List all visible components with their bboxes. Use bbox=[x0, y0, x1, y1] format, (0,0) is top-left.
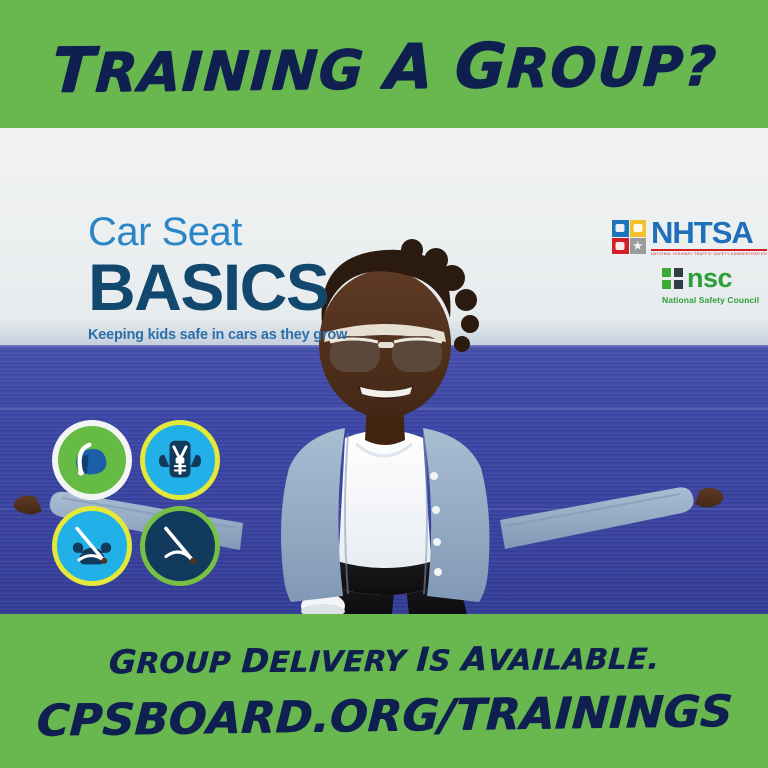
nsc-wordmark: nsc bbox=[687, 265, 732, 292]
stage-icon-seat-belt bbox=[140, 506, 220, 586]
pedestrian-tile-icon bbox=[630, 220, 647, 237]
lockup-tagline: Keeping kids safe in cars as they grow bbox=[88, 327, 358, 343]
lockup-line-1: Car Seat bbox=[88, 212, 358, 252]
nhtsa-expansion-text: NATIONAL HIGHWAY TRAFFIC SAFETY ADMINIST… bbox=[651, 252, 767, 256]
nhtsa-logo: NHTSA NATIONAL HIGHWAY TRAFFIC SAFETY AD… bbox=[612, 218, 767, 256]
nsc-square-1 bbox=[662, 268, 671, 277]
lockup-line-2: BASICS bbox=[88, 254, 358, 321]
hero-photo: Car Seat BASICS Keeping kids safe in car… bbox=[0, 128, 768, 614]
nsc-logo: nsc National Safety Council bbox=[662, 265, 759, 305]
top-banner: TRAINING A GROUP? bbox=[0, 0, 768, 128]
nsc-logo-row: nsc bbox=[662, 265, 732, 292]
availability-text: GROUP DELIVERY IS AVAILABLE. bbox=[108, 638, 661, 682]
car-seat-stage-icons bbox=[52, 420, 228, 592]
nsc-subtitle: National Safety Council bbox=[662, 295, 759, 305]
stage-icon-booster bbox=[52, 506, 132, 586]
airbag-tile-icon bbox=[612, 238, 629, 255]
stage-icon-rear-facing bbox=[52, 420, 132, 500]
stage-icon-forward-facing bbox=[140, 420, 220, 500]
page-title: TRAINING A GROUP? bbox=[50, 33, 719, 102]
nsc-square-4 bbox=[674, 280, 683, 289]
star-tile-icon bbox=[630, 238, 647, 255]
car-seat-basics-lockup: Car Seat BASICS Keeping kids safe in car… bbox=[88, 212, 358, 343]
car-tile-icon bbox=[612, 220, 629, 237]
nsc-square-2 bbox=[674, 268, 683, 277]
website-url-text: CPSBOARD.ORG/TRAININGS bbox=[35, 686, 733, 747]
nhtsa-word-text: NHTSA bbox=[651, 218, 767, 247]
nhtsa-wordmark: NHTSA NATIONAL HIGHWAY TRAFFIC SAFETY AD… bbox=[651, 218, 767, 256]
bottom-banner: GROUP DELIVERY IS AVAILABLE. CPSBOARD.OR… bbox=[0, 614, 768, 768]
nhtsa-tiles-icon bbox=[612, 220, 646, 254]
nsc-squares-icon bbox=[662, 268, 683, 289]
promo-poster: TRAINING A GROUP? bbox=[0, 0, 768, 768]
nsc-square-3 bbox=[662, 280, 671, 289]
